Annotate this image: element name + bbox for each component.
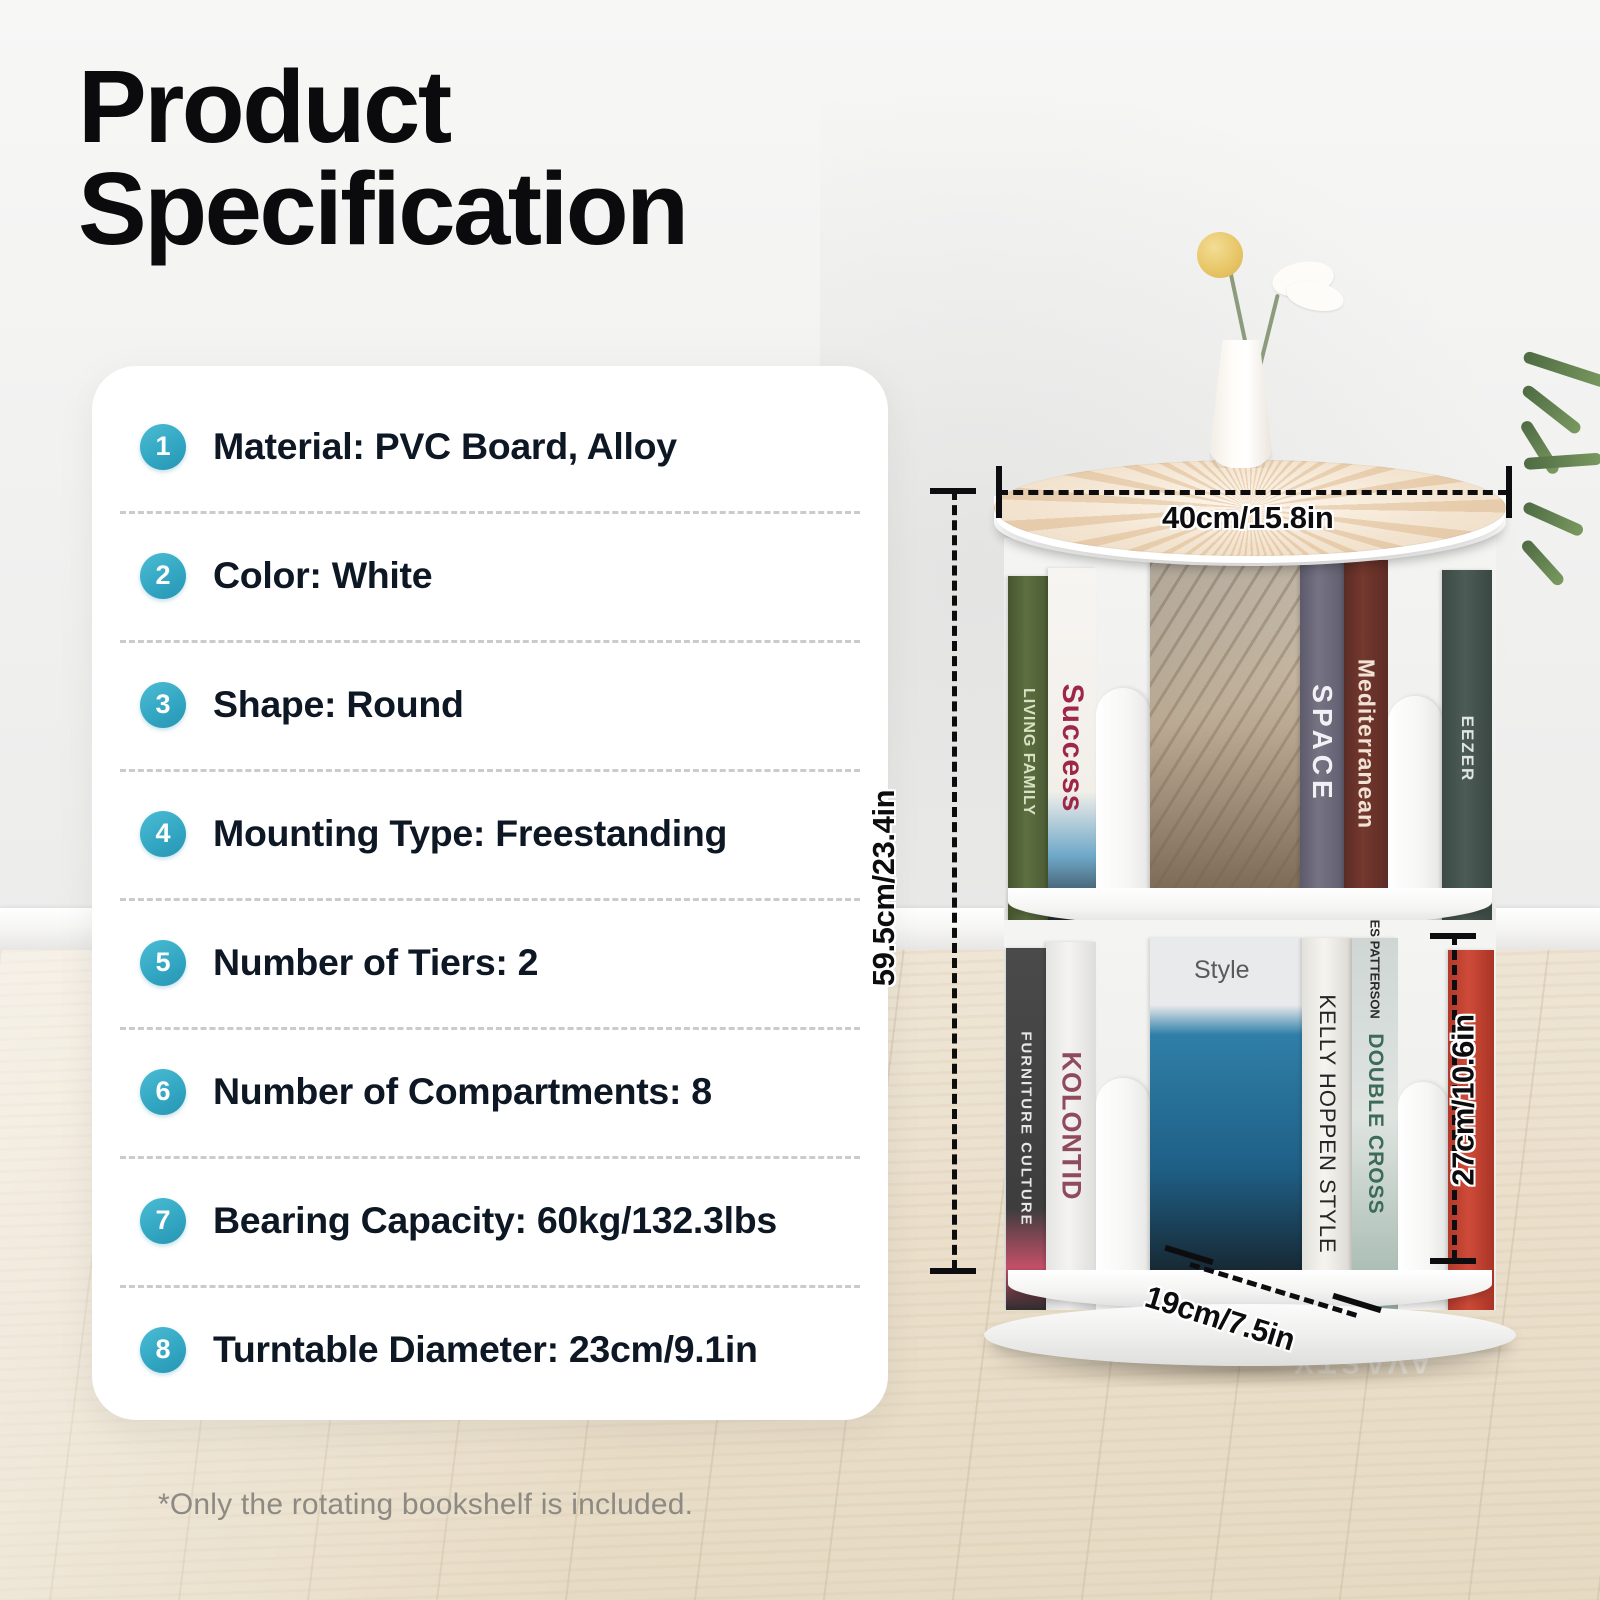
spec-row-6: 6 Number of Compartments: 8: [92, 1027, 888, 1156]
spec-label-5: Number of Tiers: 2: [213, 941, 538, 984]
spec-badge-7: 7: [140, 1198, 186, 1244]
spec-label-6: Number of Compartments: 8: [213, 1070, 712, 1113]
book-interior-photo: [1150, 562, 1300, 928]
spec-row-1: 1 Material: PVC Board, Alloy: [92, 382, 888, 511]
book-spine-label: KOLONTID: [1056, 1052, 1087, 1201]
spec-label-7: Bearing Capacity: 60kg/132.3lbs: [213, 1199, 777, 1242]
spec-label-2: Color: White: [213, 554, 432, 597]
book-living-family: LIVING FAMILY: [1008, 576, 1048, 928]
book-author-label: JAMES PATTERSON: [1368, 920, 1383, 1019]
spec-row-2: 2 Color: White: [92, 511, 888, 640]
spec-row-5: 5 Number of Tiers: 2: [92, 898, 888, 1027]
specification-card: 1 Material: PVC Board, Alloy 2 Color: Wh…: [92, 366, 888, 1420]
width-cap-left: [996, 466, 1002, 518]
book-space: SPACE: [1300, 560, 1344, 928]
spec-badge-1: 1: [140, 424, 186, 470]
book-mediterranean: Mediterranean: [1344, 560, 1388, 928]
height-dimension-label: 59.5cm/23.4in: [866, 790, 902, 986]
height-cap-top: [930, 488, 976, 494]
spec-badge-3: 3: [140, 682, 186, 728]
spec-label-8: Turntable Diameter: 23cm/9.1in: [213, 1328, 758, 1371]
book-spine-label: EEZER: [1457, 716, 1477, 783]
book-style: Style: [1150, 938, 1302, 1310]
book-spine-label: SPACE: [1306, 684, 1338, 803]
spec-badge-8: 8: [140, 1327, 186, 1373]
width-cap-right: [1506, 466, 1512, 518]
book-spine-label: Mediterranean: [1353, 659, 1380, 829]
spec-badge-4: 4: [140, 811, 186, 857]
spec-badge-2: 2: [140, 553, 186, 599]
book-success: Success: [1048, 568, 1096, 928]
tier-height-dimension-label: 27cm/10.6in: [1446, 1014, 1482, 1185]
title-line-1: Product: [78, 49, 450, 164]
book-furniture-culture: FURNITURE CULTURE: [1006, 948, 1046, 1310]
spec-row-4: 4 Mounting Type: Freestanding: [92, 769, 888, 898]
height-cap-bottom: [930, 1268, 976, 1274]
width-dimension-label: 40cm/15.8in: [1162, 500, 1333, 536]
tier-height-cap-bottom: [1430, 1258, 1476, 1264]
page-title: Product Specification: [78, 56, 918, 260]
book-double-cross: DOUBLE CROSS JAMES PATTERSON: [1352, 938, 1398, 1310]
book-kolontid: KOLONTID: [1046, 942, 1096, 1310]
tier-height-cap-top: [1430, 933, 1476, 939]
spec-row-3: 3 Shape: Round: [92, 640, 888, 769]
lower-tier: FURNITURE CULTURE KOLONTID Style KELLY H…: [1004, 920, 1496, 1310]
book-spine-label: LIVING FAMILY: [1019, 688, 1037, 816]
spec-row-7: 7 Bearing Capacity: 60kg/132.3lbs: [92, 1156, 888, 1285]
rotating-bookshelf-product: LIVING FAMILY Success SPACE Mediterranea…: [980, 420, 1520, 1360]
spec-label-1: Material: PVC Board, Alloy: [213, 425, 677, 468]
spec-badge-6: 6: [140, 1069, 186, 1115]
spec-badge-5: 5: [140, 940, 186, 986]
book-kelly-hoppen-style: KELLY HOPPEN STYLE: [1302, 938, 1352, 1310]
billy-ball-flower: [1197, 232, 1243, 278]
book-spine-label: FURNITURE CULTURE: [1018, 1031, 1035, 1226]
book-spine-label: Success: [1055, 684, 1089, 813]
disclaimer-note: *Only the rotating bookshelf is included…: [158, 1488, 693, 1522]
book-eezer: EEZER: [1442, 570, 1492, 928]
book-style-title: Style: [1194, 956, 1250, 985]
spec-label-3: Shape: Round: [213, 683, 464, 726]
width-dimension-line: [998, 490, 1508, 495]
book-spine-label: KELLY HOPPEN STYLE: [1314, 994, 1340, 1253]
book-spine-label: DOUBLE CROSS: [1363, 1033, 1387, 1214]
upper-tier: LIVING FAMILY Success SPACE Mediterranea…: [1004, 538, 1496, 928]
height-dimension-line: [952, 490, 957, 1270]
spec-row-8: 8 Turntable Diameter: 23cm/9.1in: [92, 1285, 888, 1414]
spec-label-4: Mounting Type: Freestanding: [213, 812, 727, 855]
title-line-2: Specification: [78, 158, 918, 260]
